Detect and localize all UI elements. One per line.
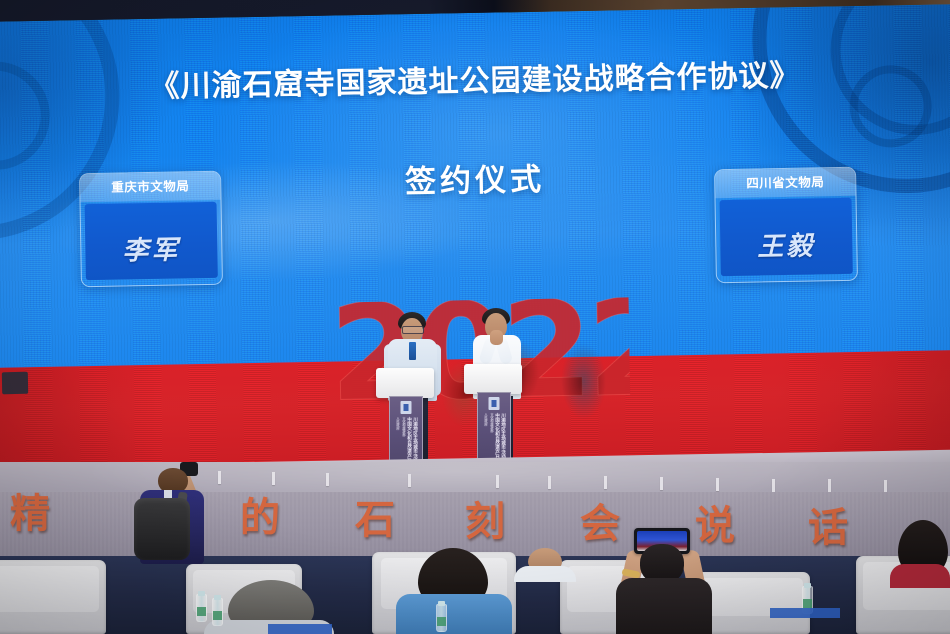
bottle-label [803,599,812,608]
water-bottle [436,604,447,632]
stage-marker [272,472,275,485]
podium-top [376,368,434,398]
stage-marker [828,479,831,492]
emblem-icon [401,401,412,414]
calligraphy-character: 石 [355,500,395,540]
panel-organization-label: 重庆市文物局 [80,172,220,202]
lanyard-badge [409,342,416,360]
signature-text: 李军 [85,229,218,268]
photographer [118,468,238,588]
table-prop [268,624,332,634]
photograph-scene: 《川渝石窟寺国家遗址公园建设战略合作协议》 签约仪式 重庆市文物局 李军 四川省… [0,0,950,634]
bottle-label [197,607,206,616]
podium-top [464,364,522,394]
bottle-cap [804,583,811,588]
panel-organization-label: 四川省文物局 [715,168,855,198]
panel-signature-area: 李军 [85,202,218,280]
stage-marker [548,476,551,489]
stage-marker [772,479,775,492]
bottle-cap [438,601,445,606]
bottle-label [437,617,446,626]
stage-marker [716,478,719,491]
stage-marker [326,473,329,486]
water-bottle [212,598,223,626]
backpack [134,498,190,560]
phone-recorder [600,516,730,634]
calligraphy-character: 刻 [465,502,505,542]
stage-marker [604,476,607,489]
emblem-icon [489,397,500,410]
signature-panel-chongqing: 重庆市文物局 李军 [79,171,223,287]
audience-shoulders [890,564,950,588]
panel-signature-area: 王毅 [720,198,853,276]
glasses-icon [402,326,424,334]
bottle-cap [214,595,221,600]
bottle-cap [198,591,205,596]
chair-back [0,566,99,612]
calligraphy-character: 精 [10,494,50,534]
calligraphy-character: 话 [808,508,848,548]
audience-chair [0,560,106,634]
speaker-hands [490,330,503,345]
calligraphy-character: 的 [240,498,280,538]
stage-side-object [2,372,28,394]
water-bottle [196,594,207,622]
stage-marker [660,477,663,490]
audience-shoulders [514,566,576,582]
signature-panel-sichuan: 四川省文物局 王毅 [714,167,858,283]
table-prop [770,608,840,618]
stage-marker [496,475,499,488]
signature-text: 王毅 [720,225,853,264]
bottle-label [213,611,222,620]
recorder-torso [616,578,712,634]
audience-shoulders [396,594,512,634]
stage-marker [408,474,411,487]
